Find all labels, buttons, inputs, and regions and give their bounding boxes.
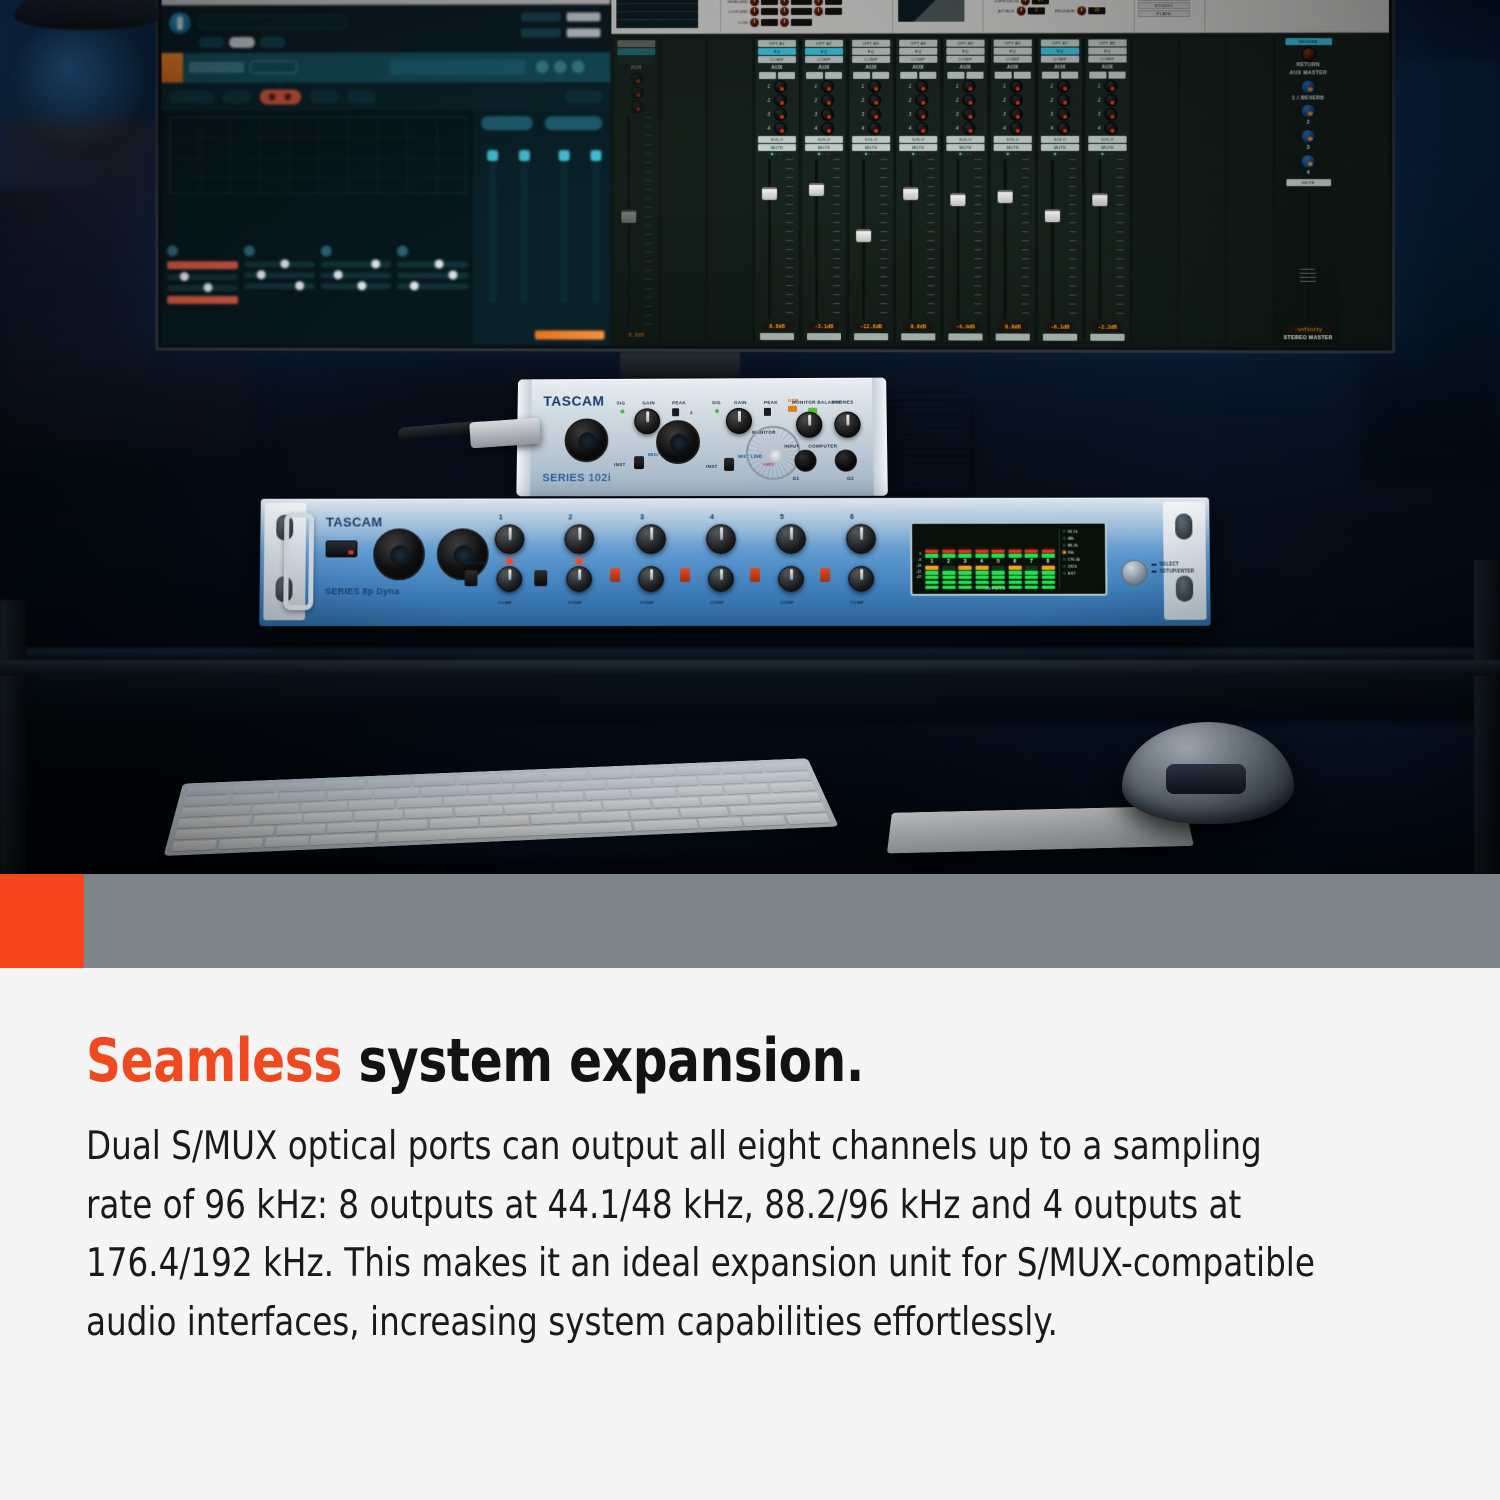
aux-send-3-label: 3 xyxy=(1307,146,1310,152)
reverb-preset-panel[interactable]: ROOM LIVE STUDIO PLATE xyxy=(1135,0,1206,32)
strip-comp-tag[interactable]: COMP xyxy=(899,56,937,63)
strip-input-tag[interactable]: OPT A4 xyxy=(899,40,937,47)
strip-aux-label: AUX xyxy=(865,65,876,71)
strip-aux-send[interactable]: 4 xyxy=(768,122,787,135)
channel-1-comp-label: COMP xyxy=(498,600,512,605)
daw-mix-meter xyxy=(535,330,605,339)
strip-comp-tag[interactable]: COMP xyxy=(994,56,1032,63)
reverb-preset-studio[interactable]: STUDIO xyxy=(1138,2,1191,9)
aux-master-label: AUX MASTER xyxy=(1289,71,1327,77)
strip-fader[interactable] xyxy=(994,157,1032,322)
eq-freq-value xyxy=(791,8,812,15)
ch2-combo-jack[interactable] xyxy=(656,420,700,464)
strip-leds xyxy=(1006,153,1019,155)
strip-comp-tag[interactable]: COMP xyxy=(1088,55,1126,62)
strip-comp-tag[interactable]: COMP xyxy=(1041,56,1079,63)
attack-knob[interactable] xyxy=(1017,6,1026,15)
daw-slider[interactable] xyxy=(397,272,468,278)
master-mute-button[interactable]: MUTE xyxy=(1286,179,1331,186)
mixer-effects-panels[interactable]: EQUALIZER HIGH HIGH-MID xyxy=(611,0,1389,34)
strip-aux-send[interactable]: 3 xyxy=(1050,108,1069,121)
channel-2-gain-knob[interactable] xyxy=(564,524,594,554)
daw-search-input[interactable] xyxy=(199,15,347,29)
daw-knob-row[interactable] xyxy=(167,245,468,347)
meter-channel-2: 2 xyxy=(942,549,955,589)
daw-control-bar[interactable] xyxy=(161,82,610,110)
strip-aux-send[interactable]: 2 xyxy=(1003,94,1022,107)
strip-input-tag[interactable]: OPT A8 xyxy=(1088,39,1126,46)
strip-aux-send[interactable]: 4 xyxy=(1098,122,1117,135)
strip-aux-send[interactable]: 1 xyxy=(1003,80,1022,93)
strip-comp-tag[interactable]: COMP xyxy=(805,56,843,63)
channel-2-comp-label: COMP xyxy=(568,600,582,605)
strip-aux-send[interactable]: 4 xyxy=(909,122,928,135)
daw-toolbar-buttons[interactable] xyxy=(199,37,286,48)
strip-eq-tag[interactable]: EQ xyxy=(946,48,984,55)
accent-color-band xyxy=(0,874,1500,968)
strip-mute-button[interactable]: MUTE xyxy=(946,144,984,151)
eq-band-row[interactable]: LOW-MID xyxy=(726,7,887,16)
strip-eq-tag[interactable]: EQ xyxy=(852,48,890,55)
monitor-balance-knob[interactable] xyxy=(796,412,822,438)
strip-channel-button[interactable] xyxy=(948,333,982,340)
mixer-strip-7[interactable]: OPT A7 EQ COMP AUX 1 2 3 4 SOLO MUTE xyxy=(1037,36,1083,343)
channel-4-phantom-button[interactable] xyxy=(680,568,690,582)
daw-slider[interactable] xyxy=(321,272,392,278)
strip-prepost[interactable] xyxy=(759,72,795,79)
ch1-gain-knob[interactable] xyxy=(634,408,660,434)
daw-knob-column[interactable] xyxy=(244,245,315,347)
strip-aux-send[interactable]: 3 xyxy=(815,108,834,121)
strip-aux-send[interactable]: 3 xyxy=(1003,108,1022,121)
channel-3-comp-knob[interactable] xyxy=(638,566,664,592)
stereo-master-fader[interactable] xyxy=(1288,188,1329,324)
sample-rate-indicators: 44.1k 48k 88.2k 96k 176.4k 192k EXT xyxy=(1058,529,1101,589)
strip-solo-button[interactable]: SOLO xyxy=(946,136,984,143)
daw-knob-column[interactable] xyxy=(167,245,238,347)
channel-3-gain-knob[interactable] xyxy=(636,524,666,554)
dynamics-param-row[interactable]: ATTACK 2 RELEASE 10 xyxy=(989,6,1129,15)
strip-eq-tag[interactable]: EQ xyxy=(1041,48,1079,55)
mixer-strip-1[interactable]: OPT A1 EQ COMP AUX 1 2 3 4 SOLO MUTE xyxy=(754,37,800,343)
daw-toolbar xyxy=(161,4,610,53)
meter-channel-number: 6 xyxy=(1013,559,1016,565)
daw-control-button[interactable] xyxy=(222,90,252,103)
strip-prepost[interactable] xyxy=(947,72,983,79)
daw-control-button[interactable] xyxy=(347,90,377,103)
eq-q-knob[interactable] xyxy=(814,7,823,16)
mixer-strip-unused[interactable] xyxy=(707,37,753,343)
sample-rate-48k: 48k xyxy=(1062,536,1090,541)
channel-4-gain-knob[interactable] xyxy=(706,524,736,554)
channel-5-gain-knob[interactable] xyxy=(776,524,806,554)
strip-solo-button[interactable]: SOLO xyxy=(994,136,1032,143)
computer-monitor: Audio Plug-in Editor xyxy=(155,0,1395,354)
phones-jack-2[interactable] xyxy=(835,450,857,472)
strip-solo-button[interactable]: SOLO xyxy=(1088,136,1126,143)
eq-freq-knob[interactable] xyxy=(780,17,789,26)
release-label: RELEASE xyxy=(1047,8,1075,13)
daw-slider[interactable] xyxy=(321,261,392,267)
channel-1-gain-knob[interactable] xyxy=(495,524,525,554)
aux-master-knob-1[interactable] xyxy=(1301,79,1316,94)
aux-master-knob-3[interactable] xyxy=(1301,129,1316,144)
daw-plugin-name xyxy=(189,62,244,73)
strip-aux-send[interactable]: 3 xyxy=(862,108,881,121)
monitor-knob[interactable] xyxy=(630,86,643,99)
eq-freq-value xyxy=(791,18,812,25)
strip-mute-button[interactable]: MUTE xyxy=(805,144,843,151)
strip-aux-send[interactable]: 1 xyxy=(909,80,928,93)
strip-aux-send[interactable]: 4 xyxy=(815,122,834,135)
meter-overload-led xyxy=(925,549,938,552)
equalizer-curve-graph xyxy=(616,0,698,28)
strip-prepost[interactable] xyxy=(806,72,842,79)
meter-scale-32: -32 xyxy=(916,570,921,574)
strip-aux-label: AUX xyxy=(1054,65,1066,71)
reverb-panel[interactable]: PRE DELAY 75 REVERB TIME 1.4 DIFFUSION 6… xyxy=(984,0,1135,33)
mixer-channel-strips[interactable]: AUX 0.0dB OPT A1 EQ xyxy=(611,33,1389,348)
strip-fader[interactable] xyxy=(758,157,796,321)
ch1-sig-led xyxy=(620,409,624,413)
sample-rate-192k: 192k xyxy=(1063,564,1091,569)
rack-mount-hole xyxy=(1176,576,1193,602)
daw-style-button[interactable] xyxy=(482,116,534,130)
strip-channel-button[interactable] xyxy=(854,333,888,340)
daw-slider[interactable] xyxy=(167,274,238,280)
strip-aux-send[interactable]: 4 xyxy=(1050,122,1069,135)
strip-eq-tag[interactable]: EQ xyxy=(805,48,843,55)
tascam-102i-interface: TASCAM SERIES 102i SIG GAIN PEAK INST MI… xyxy=(516,378,888,497)
eq-band-row[interactable]: LOW xyxy=(726,17,887,26)
reverb-preset-list[interactable]: ROOM LIVE STUDIO PLATE xyxy=(1137,0,1192,18)
dynamics-graph-panel[interactable] xyxy=(893,0,983,33)
ch2-gain-knob[interactable] xyxy=(726,408,752,434)
mixer-master-section[interactable]: REVERB RETURN AUX MASTER 1 / REVERB 2 3 … xyxy=(1274,36,1341,344)
daw-knob-column[interactable] xyxy=(321,246,392,348)
equalizer-bands[interactable]: HIGH HIGH-MID LOW-MID xyxy=(721,0,893,33)
eq-band-row[interactable]: HIGH-MID xyxy=(726,0,887,6)
channel-1-comp-knob[interactable] xyxy=(496,566,522,592)
meter-scale-6: -6 xyxy=(916,559,921,563)
rack-handle[interactable] xyxy=(283,513,314,611)
mixer-strip-unused[interactable] xyxy=(1227,36,1274,344)
daw-slider[interactable] xyxy=(244,261,315,267)
input-2-combo-jack[interactable] xyxy=(437,528,489,580)
strip-channel-button[interactable] xyxy=(996,334,1030,341)
channel-3-number: 3 xyxy=(640,514,644,521)
input-1-combo-jack[interactable] xyxy=(373,528,425,580)
channel-5-comp-knob[interactable] xyxy=(778,566,804,592)
channel-3-phantom-button[interactable] xyxy=(610,568,620,582)
strip-aux-send[interactable]: 3 xyxy=(768,108,787,121)
channel-5-phantom-button[interactable] xyxy=(750,568,760,582)
daw-toolbar-button[interactable] xyxy=(199,37,225,48)
daw-slider[interactable] xyxy=(167,285,238,291)
strip-prepost[interactable] xyxy=(853,72,889,79)
strip-aux-label: AUX xyxy=(771,65,782,71)
strip-aux-send[interactable]: 2 xyxy=(909,94,928,107)
daw-reset-button[interactable] xyxy=(565,90,603,103)
daw-slider[interactable] xyxy=(321,283,392,289)
monitor-fader[interactable] xyxy=(617,115,655,330)
strip-aux-send[interactable]: 2 xyxy=(815,94,834,107)
monitor-screen: Audio Plug-in Editor xyxy=(161,0,1389,348)
daw-saturation-band xyxy=(171,196,463,231)
strip-channel-button[interactable] xyxy=(1090,334,1124,341)
power-switch[interactable] xyxy=(326,540,358,557)
strip-prepost[interactable] xyxy=(900,72,936,79)
daw-waveform-area xyxy=(161,110,474,345)
eq-freq-knob[interactable] xyxy=(780,7,789,16)
keyboard-row-home[interactable] xyxy=(177,792,821,828)
daw-level-bar xyxy=(167,296,238,304)
select-label: SELECT xyxy=(1160,562,1180,569)
channel-2-number: 2 xyxy=(568,514,572,521)
strip-mute-button[interactable]: MUTE xyxy=(758,144,796,151)
daw-drive-fader[interactable] xyxy=(521,150,528,303)
aux-master-knob-4[interactable] xyxy=(1301,154,1316,169)
strip-mute-button[interactable]: MUTE xyxy=(994,144,1032,151)
attack-value: 2 xyxy=(1028,7,1045,14)
strip-prepost[interactable] xyxy=(1042,72,1078,79)
daw-output-fader[interactable] xyxy=(593,150,600,304)
strip-comp-tag[interactable]: COMP xyxy=(946,56,984,63)
ch1-combo-jack[interactable] xyxy=(564,418,608,462)
daw-knob[interactable] xyxy=(244,245,255,256)
release-value: 10 xyxy=(1088,7,1105,14)
mixer-strip-unused[interactable] xyxy=(1179,36,1226,344)
mixer-strip-6[interactable]: OPT A6 EQ COMP AUX 1 2 3 4 SOLO MUTE xyxy=(990,37,1036,344)
channel-1-number: 1 xyxy=(499,514,503,521)
strip-aux-send[interactable]: 1 xyxy=(1098,80,1117,93)
strip-solo-button[interactable]: SOLO xyxy=(758,136,796,143)
channel-2-switch[interactable] xyxy=(534,570,547,586)
daw-output-section[interactable] xyxy=(475,110,611,345)
strip-aux-send[interactable]: 4 xyxy=(1003,122,1022,135)
phones-jack-1[interactable] xyxy=(794,450,816,472)
strip-solo-button[interactable]: SOLO xyxy=(1041,136,1079,143)
strip-eq-tag[interactable]: EQ xyxy=(994,48,1032,55)
mixer-strip-5[interactable]: OPT A5 EQ COMP AUX 1 2 3 4 SOLO MUTE xyxy=(942,37,988,344)
daw-mix-button[interactable] xyxy=(545,116,603,130)
strip-aux-label: AUX xyxy=(1007,65,1019,71)
tascam-8p-brand: TASCAM xyxy=(326,515,383,530)
strip-aux-send[interactable]: 2 xyxy=(956,94,975,107)
strip-eq-tag[interactable]: EQ xyxy=(899,48,937,55)
strip-prepost[interactable] xyxy=(1089,72,1125,79)
strip-prepost[interactable] xyxy=(995,72,1031,79)
daw-control-button[interactable] xyxy=(169,90,214,103)
eq-q-value xyxy=(825,0,842,4)
daw-knob[interactable] xyxy=(321,246,332,257)
eq-q-knob[interactable] xyxy=(814,0,823,5)
mixer-strip-8[interactable]: OPT A8 EQ COMP AUX 1 2 3 4 SOLO MUTE xyxy=(1084,36,1130,343)
strip-aux-send[interactable]: 4 xyxy=(956,122,975,135)
channel-3-comp-label: COMP xyxy=(640,600,654,605)
strip-aux-label: AUX xyxy=(960,65,972,71)
daw-toolbar-button-active[interactable] xyxy=(229,37,255,48)
ch2-mic-line-switch[interactable] xyxy=(724,458,734,471)
ch1-mic-line-switch[interactable] xyxy=(634,456,644,469)
reverb-tab[interactable]: REVERB xyxy=(1285,38,1332,45)
daw-knob-column[interactable] xyxy=(397,246,468,348)
strip-fader[interactable] xyxy=(1041,157,1079,322)
strip-aux-send[interactable]: 2 xyxy=(1050,94,1069,107)
strip-comp-tag[interactable]: COMP xyxy=(758,56,796,63)
daw-toolbar-button[interactable] xyxy=(260,37,286,48)
strip-input-tag[interactable]: OPT A6 xyxy=(994,40,1032,47)
strip-solo-button[interactable]: SOLO xyxy=(899,136,937,143)
body-paragraph: Dual S/MUX optical ports can output all … xyxy=(86,1118,1321,1352)
input-level-meters: 1 2 3 4 xyxy=(925,529,1054,589)
strip-db-readout: -12.8dB xyxy=(856,322,886,331)
mixer-strip-3[interactable]: OPT A3 EQ COMP AUX 1 2 3 4 SOLO MUTE xyxy=(848,37,894,344)
keyboard-row-qwerty[interactable] xyxy=(180,782,816,817)
monitor-input-label: INPUT xyxy=(784,444,799,449)
channel-4-comp-knob[interactable] xyxy=(708,566,734,592)
eq-gain-knob[interactable] xyxy=(750,0,759,6)
monitor-knob[interactable] xyxy=(630,100,643,113)
strip-channel-button[interactable] xyxy=(901,333,935,340)
release-knob[interactable] xyxy=(1077,6,1086,15)
strip-comp-tag[interactable]: COMP xyxy=(852,56,890,63)
strip-aux-send[interactable]: 2 xyxy=(768,94,787,107)
strip-channel-button[interactable] xyxy=(807,333,841,340)
eq-freq-knob[interactable] xyxy=(780,0,789,5)
strip-input-tag[interactable]: OPT A5 xyxy=(946,40,984,47)
rack-frame-right xyxy=(1474,560,1500,874)
monitor-volume-knob[interactable] xyxy=(746,426,801,480)
strip-fader[interactable] xyxy=(1088,157,1126,322)
strip-mute-button[interactable]: MUTE xyxy=(899,144,937,151)
strip-aux-send[interactable]: 3 xyxy=(956,108,975,121)
monitor-input-tag[interactable] xyxy=(617,40,655,47)
band-orange-block xyxy=(0,874,84,968)
strip-channel-button[interactable] xyxy=(1043,334,1077,341)
strip-aux-send[interactable]: 3 xyxy=(909,108,928,121)
band-gray-block xyxy=(84,874,1500,968)
strip-aux-send[interactable]: 1 xyxy=(815,80,834,93)
rack-mount-hole xyxy=(1175,514,1192,540)
strip-solo-button[interactable]: SOLO xyxy=(852,136,890,143)
strip-aux-send[interactable]: 2 xyxy=(1098,94,1117,107)
daw-red-switch[interactable] xyxy=(260,89,301,104)
select-encoder-knob[interactable] xyxy=(1121,560,1147,586)
strip-input-tag[interactable]: OPT A7 xyxy=(1041,39,1079,46)
strip-fader[interactable] xyxy=(852,157,890,321)
mixer-strip-unused[interactable] xyxy=(1132,36,1178,344)
daw-slider[interactable] xyxy=(397,283,468,289)
diffusion-knob[interactable] xyxy=(1021,0,1030,5)
strip-aux-send[interactable]: 3 xyxy=(1098,108,1117,121)
strip-fader[interactable] xyxy=(899,157,937,321)
mixer-strip-4[interactable]: OPT A4 EQ COMP AUX 1 2 3 4 SOLO MUTE xyxy=(895,37,941,344)
strip-aux-label: AUX xyxy=(818,65,829,71)
channel-6-comp-knob[interactable] xyxy=(848,566,874,592)
monitor-knob[interactable] xyxy=(630,72,643,85)
daw-preset-selector[interactable] xyxy=(250,61,297,74)
strip-mute-button[interactable]: MUTE xyxy=(852,144,890,151)
daw-mode-field[interactable] xyxy=(390,59,526,74)
daw-plugin-window[interactable]: Audio Plug-in Editor xyxy=(161,0,611,346)
strip-aux-send[interactable]: 1 xyxy=(862,80,881,93)
strip-fader[interactable] xyxy=(805,157,843,321)
reverb-preset-plate[interactable]: PLATE xyxy=(1138,10,1191,17)
daw-slider[interactable] xyxy=(397,262,468,268)
aux-master-knob-2[interactable] xyxy=(1301,104,1316,119)
reverb-preset-live[interactable]: LIVE xyxy=(1138,0,1191,1)
ch1-gain-label: GAIN xyxy=(642,400,655,405)
strip-aux-label: AUX xyxy=(912,65,924,71)
monitor-comp-tag[interactable] xyxy=(617,56,655,63)
tascam-102i-brand: TASCAM xyxy=(543,393,604,409)
reverb-param-label: DIFFUSION xyxy=(989,0,1019,3)
daw-control-button[interactable] xyxy=(309,90,339,103)
strip-fader[interactable] xyxy=(946,157,984,321)
strip-eq-tag[interactable]: EQ xyxy=(1088,47,1126,54)
strip-mute-button[interactable]: MUTE xyxy=(1088,144,1126,151)
strip-channel-button[interactable] xyxy=(760,333,794,340)
strip-aux-send[interactable]: 1 xyxy=(956,80,975,93)
strip-aux-send[interactable]: 2 xyxy=(862,94,881,107)
eq-gain-knob[interactable] xyxy=(750,7,759,16)
strip-solo-button[interactable]: SOLO xyxy=(805,136,843,143)
strip-aux-send[interactable]: 1 xyxy=(1050,80,1069,93)
sample-rate-88-2k: 88.2k xyxy=(1062,543,1090,548)
sample-rate-176-4k: 176.4k xyxy=(1063,557,1091,562)
phones-volume-knob[interactable] xyxy=(834,412,861,438)
daw-knob[interactable] xyxy=(167,245,178,256)
channel-4-number: 4 xyxy=(710,514,714,521)
channel-6-phantom-button[interactable] xyxy=(820,568,830,582)
meter-channel-number: 1 xyxy=(931,559,934,565)
eq-q-value xyxy=(825,8,842,15)
strip-mute-button[interactable]: MUTE xyxy=(1041,144,1079,151)
monitor-eq-tag[interactable] xyxy=(617,48,655,55)
reverb-return-knob[interactable] xyxy=(1301,47,1315,61)
strip-aux-send[interactable]: 1 xyxy=(768,80,787,93)
select-setup-labels: SELECT SETUP/ENTER xyxy=(1151,562,1194,576)
channel-1-switch[interactable] xyxy=(465,570,478,586)
strip-eq-tag[interactable]: EQ xyxy=(758,48,796,55)
mixer-software[interactable]: EQUALIZER HIGH HIGH-MID xyxy=(611,0,1389,348)
channel-6-gain-knob[interactable] xyxy=(846,524,876,554)
mouse-shadow xyxy=(14,0,160,30)
daw-knob[interactable] xyxy=(397,246,408,257)
strip-input-tag[interactable]: OPT A3 xyxy=(852,40,890,47)
strip-aux-send[interactable]: 4 xyxy=(862,122,881,135)
strip-input-tag[interactable]: OPT A1 xyxy=(758,40,796,47)
attack-label: ATTACK xyxy=(989,8,1015,13)
channel-2-comp-knob[interactable] xyxy=(566,566,592,592)
daw-header-icons[interactable] xyxy=(536,60,585,73)
phones-2-label: Ω2 xyxy=(847,476,854,481)
equalizer-panel[interactable]: EQUALIZER xyxy=(611,0,721,33)
eq-gain-knob[interactable] xyxy=(750,18,759,27)
daw-plugin-header xyxy=(161,52,610,82)
reverb-param-row[interactable]: DIFFUSION 63 xyxy=(989,0,1129,5)
strip-db-readout: 0.0dB xyxy=(762,322,792,331)
mixer-strip-2[interactable]: OPT A2 EQ COMP AUX 1 2 3 4 SOLO MUTE xyxy=(801,37,847,343)
daw-slider[interactable] xyxy=(244,272,315,278)
mixer-monitor-strip[interactable]: AUX 0.0dB xyxy=(613,37,659,343)
daw-slider[interactable] xyxy=(244,283,315,289)
daw-tone-fader[interactable] xyxy=(561,150,568,304)
daw-input-fader[interactable] xyxy=(489,150,496,303)
strip-input-tag[interactable]: OPT A2 xyxy=(805,40,843,47)
mixer-strip-unused[interactable] xyxy=(660,37,706,343)
